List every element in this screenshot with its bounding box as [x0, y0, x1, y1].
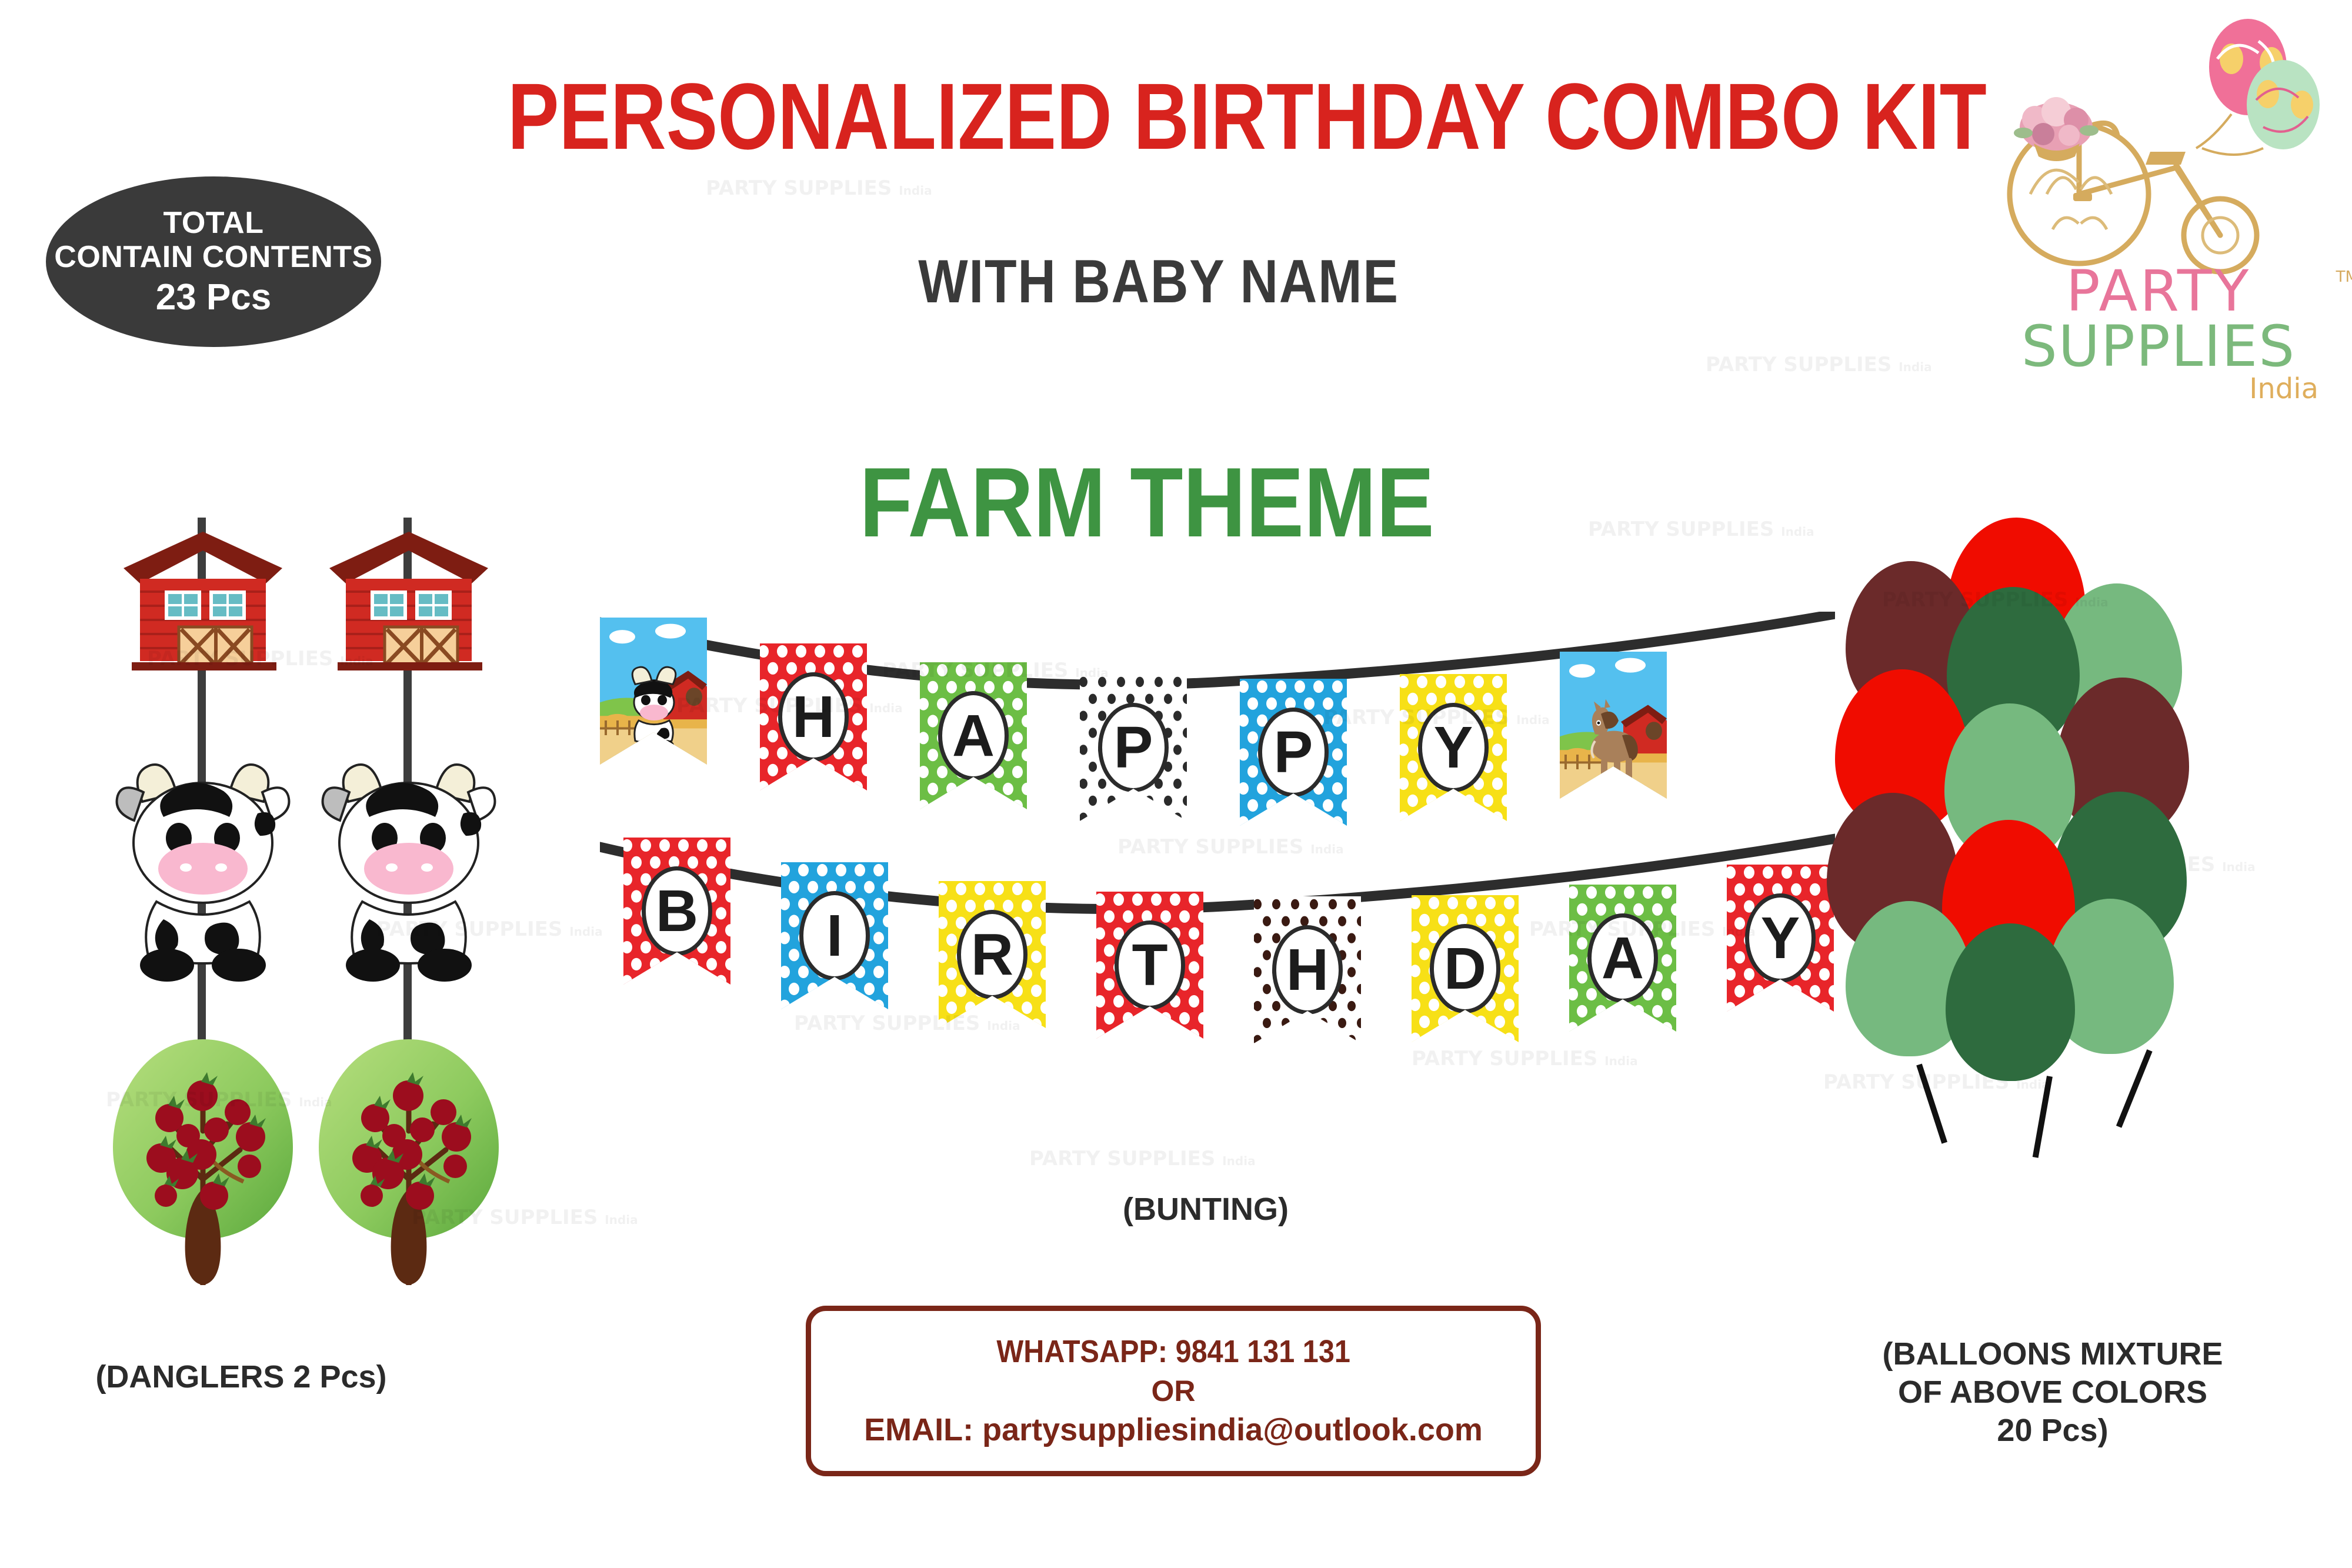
bunting-flag-cow-farm-scene — [600, 618, 707, 765]
brand-party-text: PARTY — [2066, 265, 2251, 318]
red-barn-icon — [312, 518, 506, 694]
bunting-flag-letter-a: A — [920, 662, 1027, 809]
bunting-letter: P — [1098, 703, 1169, 792]
bunting-letter: Y — [1418, 703, 1489, 792]
bunting-caption: (BUNTING) — [882, 1191, 1529, 1227]
bunting-letter: I — [799, 891, 870, 980]
balloons-caption-line3: 20 Pcs) — [1788, 1412, 2317, 1450]
cow-icon — [106, 750, 300, 997]
bunting-letter: H — [1272, 925, 1343, 1015]
whatsapp-line: WHATSAPP: 9841 131 131 — [996, 1332, 1350, 1372]
balloons-caption: (BALLOONS MIXTURE OF ABOVE COLORS 20 Pcs… — [1788, 1335, 2317, 1449]
bunting-letter: H — [778, 672, 849, 762]
balloon-string — [2116, 1049, 2153, 1128]
contact-info-box: WHATSAPP: 9841 131 131 OR EMAIL: partysu… — [806, 1306, 1541, 1476]
theme-title: FARM THEME — [603, 453, 1690, 552]
danglers-caption: (DANGLERS 2 Pcs) — [53, 1359, 429, 1395]
bunting-flag-horse-farm-scene — [1560, 652, 1667, 799]
bunting-flag-letter-p: P — [1240, 679, 1347, 826]
apple-tree-icon — [106, 1032, 300, 1285]
brand-logo: PARTYTM SUPPLIES India — [1982, 18, 2335, 500]
page-title: PERSONALIZED BIRTHDAY COMBO KIT — [508, 71, 1810, 163]
page-subtitle: WITH BABY NAME — [476, 247, 1841, 317]
bunting-row-happy: HAPPY — [600, 612, 1835, 847]
bunting-flag-letter-i: I — [781, 862, 888, 1009]
bunting-flag-letter-d: D — [1412, 895, 1519, 1042]
bunting-flag-letter-p: P — [1080, 674, 1187, 821]
dangler-1 — [106, 518, 300, 1288]
watermark: PARTY SUPPLIES India — [706, 176, 932, 200]
bunting-letter: T — [1115, 920, 1185, 1010]
total-contents-badge: TOTAL CONTAIN CONTENTS 23 Pcs — [46, 176, 381, 347]
bunting-flag-letter-h: H — [760, 643, 867, 790]
bunting-letter: A — [938, 691, 1009, 780]
apple-tree-icon — [312, 1032, 506, 1285]
balloons-caption-line1: (BALLOONS MIXTURE — [1788, 1335, 2317, 1373]
red-barn-icon — [106, 518, 300, 694]
balloon-string — [2033, 1076, 2053, 1158]
balloons-caption-line2: OF ABOVE COLORS — [1788, 1373, 2317, 1412]
bunting-flag-letter-t: T — [1096, 892, 1203, 1039]
brand-supplies-text: SUPPLIES — [1982, 318, 2335, 375]
bunting-row-birthday: BIRTHDAY — [600, 829, 1835, 1065]
watermark: PARTY SUPPLIES India — [1029, 1147, 1256, 1170]
bunting-letter: D — [1430, 924, 1500, 1013]
cow-farm-scene — [600, 618, 707, 765]
watermark: PARTY SUPPLIES India — [1706, 353, 1932, 376]
badge-line-count: 23 Pcs — [156, 277, 272, 318]
bunting-flag-letter-b: B — [623, 838, 730, 985]
cow-icon — [312, 750, 506, 997]
bunting-flag-letter-h: H — [1254, 896, 1361, 1043]
dangler-2 — [312, 518, 506, 1288]
badge-line-total: TOTAL — [164, 206, 264, 240]
bunting-letter: R — [957, 910, 1027, 999]
horse-farm-scene — [1560, 652, 1667, 799]
balloon-string — [1916, 1063, 1947, 1143]
balloon-icon — [2196, 19, 2320, 155]
bunting-flag-letter-r: R — [939, 881, 1046, 1028]
or-separator: OR — [1152, 1372, 1196, 1410]
bunting-letter: B — [642, 866, 712, 956]
bunting-letter: P — [1258, 708, 1329, 797]
badge-line-contents: CONTAIN CONTENTS — [54, 240, 372, 274]
bicycle-icon — [1982, 18, 2335, 288]
bunting-letter: A — [1587, 913, 1658, 1003]
bunting-flag-letter-y: Y — [1400, 674, 1507, 821]
trademark-icon: TM — [2336, 268, 2352, 286]
email-line: EMAIL: partysuppliesindia@outlook.com — [864, 1410, 1483, 1450]
balloon-cluster — [1770, 518, 2335, 1282]
bunting-flag-letter-a: A — [1569, 885, 1676, 1032]
bunting-display: HAPPY BIRTHDAY — [600, 612, 1835, 1112]
